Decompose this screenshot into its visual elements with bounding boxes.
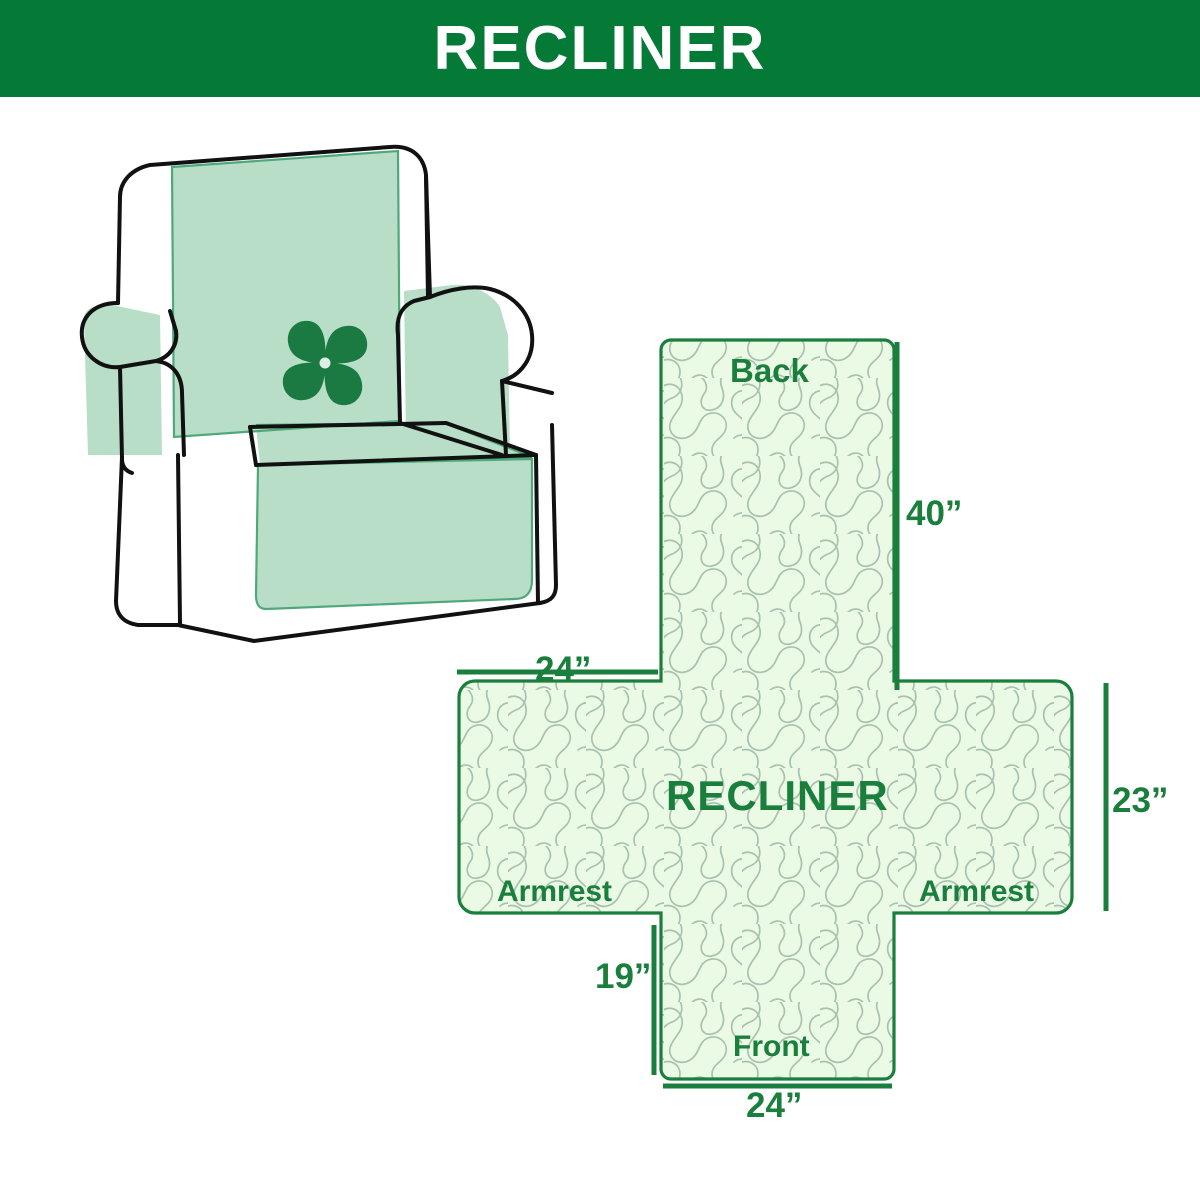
panel-label-front: Front (733, 1030, 810, 1064)
slipcover-flat-pattern-diagram (430, 300, 1200, 1130)
panel-label-center: RECLINER (666, 772, 889, 820)
cross-panel (459, 340, 1072, 1079)
panel-label-armrest-right: Armrest (919, 875, 1034, 909)
dimension-label-front-height: 19” (595, 957, 651, 997)
panel-label-back: Back (730, 352, 809, 390)
panel-label-armrest-left: Armrest (497, 875, 612, 909)
product-dimension-infographic: RECLINER (0, 0, 1200, 1200)
header-banner: RECLINER (0, 0, 1200, 97)
cross-shape-svg (430, 300, 1200, 1130)
dimension-label-front-width: 24” (746, 1086, 802, 1126)
page-title: RECLINER (0, 0, 1200, 97)
dimension-label-back-height: 40” (906, 494, 962, 534)
dimension-label-center-height: 23” (1112, 781, 1168, 821)
dimension-label-armrest-width: 24” (535, 650, 591, 690)
